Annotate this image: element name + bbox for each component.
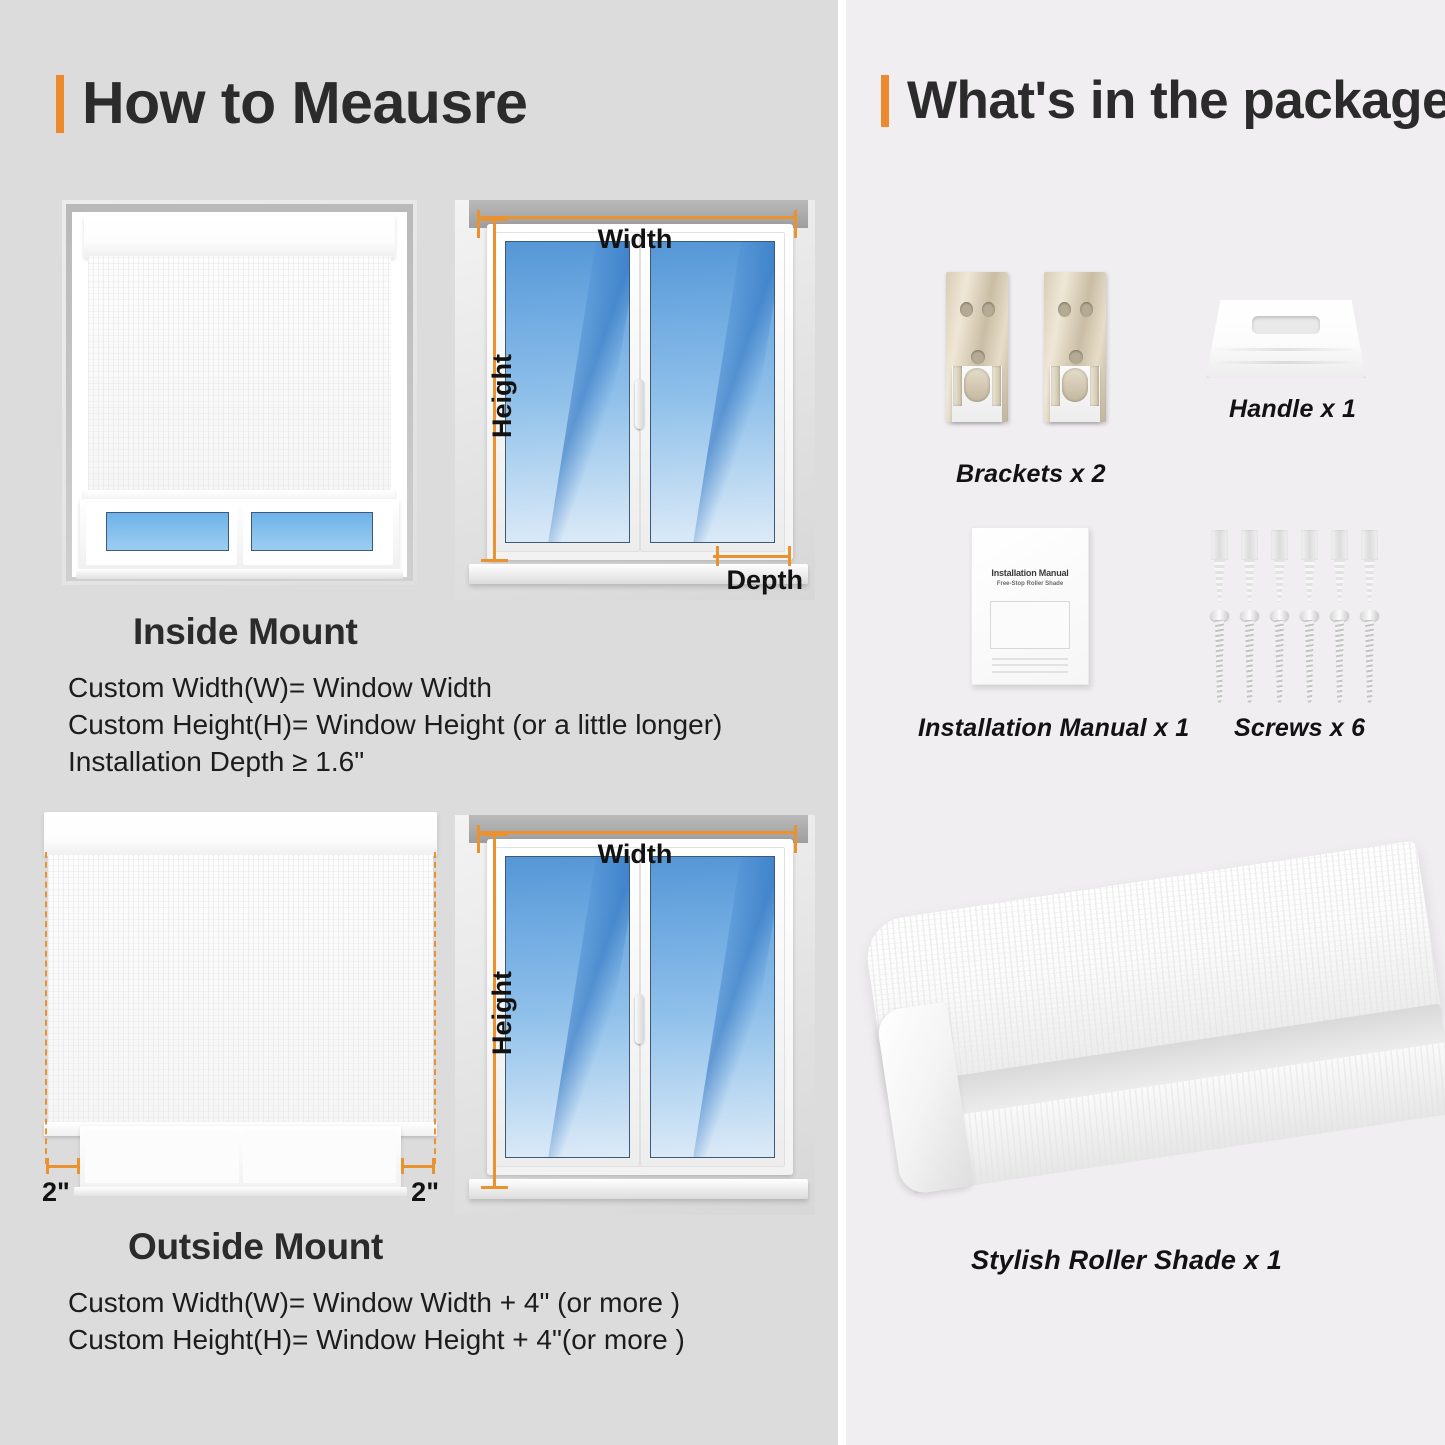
package-title-row: What's in the package <box>881 74 1445 127</box>
screw-icon <box>1300 610 1319 706</box>
outside-mount-line-2: Custom Height(H)= Window Height + 4"(or … <box>68 1322 685 1359</box>
inside-mount-heading-wrap: Inside Mount <box>133 611 358 653</box>
panel-divider <box>838 0 846 1445</box>
screw-icon <box>1330 610 1349 706</box>
window-dimensions-diagram-inside: Width Height Depth <box>455 200 815 600</box>
overhang-label-right: 2" <box>411 1177 439 1208</box>
anchor-icon <box>1271 530 1288 602</box>
screw-icon <box>1240 610 1259 706</box>
screw-icon <box>1270 610 1289 706</box>
handle-label: Handle x 1 <box>1229 395 1356 424</box>
outside-mount-text: Custom Width(W)= Window Width + 4" (or m… <box>68 1285 685 1359</box>
inside-mount-line-1: Custom Width(W)= Window Width <box>68 670 722 707</box>
screws-label: Screws x 6 <box>1234 714 1365 743</box>
inside-mount-line-3: Installation Depth ≥ 1.6" <box>68 744 722 781</box>
manual-icon: Installation Manual Free-Stop Roller Sha… <box>971 527 1089 685</box>
width-label-inside: Width <box>598 224 673 255</box>
package-title: What's in the package <box>907 74 1445 127</box>
anchor-icon <box>1361 530 1378 602</box>
bracket-icon <box>946 272 1008 422</box>
overhang-label-left: 2" <box>42 1177 70 1208</box>
handle-icon <box>1206 300 1366 378</box>
manual-cover-subtitle: Free-Stop Roller Shade <box>983 581 1077 587</box>
depth-label-inside: Depth <box>727 565 804 596</box>
screw-icon <box>1360 610 1379 706</box>
anchor-icon <box>1331 530 1348 602</box>
width-dimension-line <box>477 216 797 219</box>
manual-label: Installation Manual x 1 <box>918 714 1189 743</box>
screw-icon-group <box>1211 530 1386 690</box>
roller-shade-icon <box>881 880 1441 1180</box>
page-title: How to Meausre <box>82 74 527 133</box>
roller-shade-label: Stylish Roller Shade x 1 <box>971 1245 1282 1276</box>
infographic-page: How to Meausre <box>0 0 1445 1445</box>
inside-mount-text: Custom Width(W)= Window Width Custom Hei… <box>68 670 722 781</box>
accent-bar-icon <box>881 75 889 127</box>
bracket-icon-group <box>946 272 1106 427</box>
screw-icon <box>1210 610 1229 706</box>
inside-mount-line-2: Custom Height(H)= Window Height (or a li… <box>68 707 722 744</box>
width-label-outside: Width <box>598 839 673 870</box>
outside-mount-heading-wrap: Outside Mount <box>128 1226 383 1268</box>
manual-cover-title: Installation Manual <box>983 568 1077 578</box>
brackets-label: Brackets x 2 <box>956 460 1106 489</box>
inside-mount-heading: Inside Mount <box>133 611 358 653</box>
inside-mount-shade-diagram <box>62 200 417 585</box>
outside-mount-heading: Outside Mount <box>128 1226 383 1268</box>
how-to-measure-panel: How to Meausre <box>0 0 838 1445</box>
height-label-inside: Height <box>487 354 518 438</box>
depth-dimension-line <box>713 555 791 558</box>
height-label-outside: Height <box>487 971 518 1055</box>
whats-in-package-panel: What's in the package <box>846 0 1445 1445</box>
how-to-measure-title-row: How to Meausre <box>56 74 527 133</box>
anchor-icon <box>1301 530 1318 602</box>
accent-bar-icon <box>56 75 64 133</box>
window-dimensions-diagram-outside: Width Height <box>455 815 815 1215</box>
bracket-icon <box>1044 272 1106 422</box>
anchor-icon <box>1241 530 1258 602</box>
width-dimension-line-outside <box>477 831 797 834</box>
outside-mount-line-1: Custom Width(W)= Window Width + 4" (or m… <box>68 1285 685 1322</box>
outside-mount-shade-diagram: 2" 2" <box>38 812 443 1202</box>
overhang-guide-right <box>434 852 436 1164</box>
anchor-icon <box>1211 530 1228 602</box>
overhang-guide-left <box>45 852 47 1164</box>
